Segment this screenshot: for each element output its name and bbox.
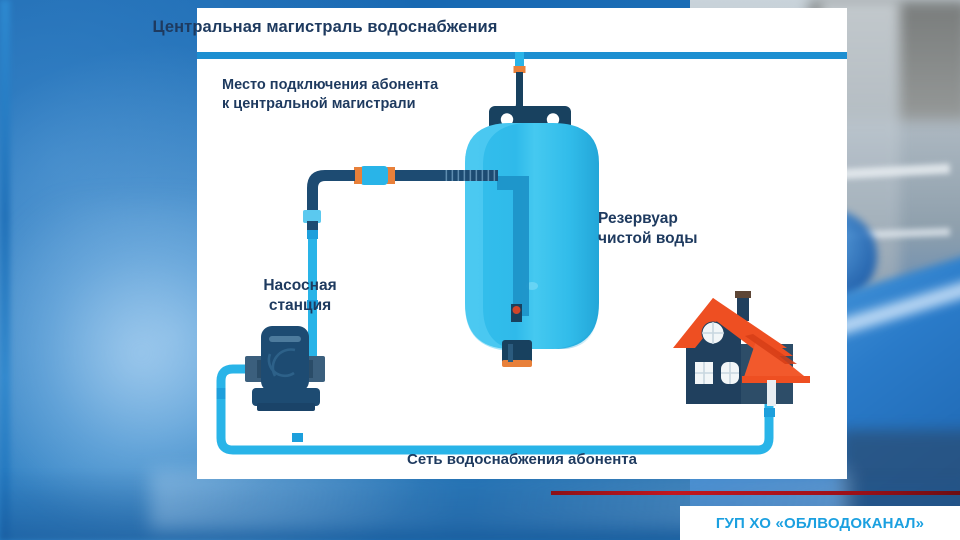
slide-canvas: Центральная магистраль водоснабжения xyxy=(0,0,960,540)
label-pump-station: Насосная станция xyxy=(245,276,355,316)
label-reservoir: Резервуар чистой воды xyxy=(598,209,698,249)
house-icon xyxy=(673,291,810,406)
label-reservoir-line2: чистой воды xyxy=(598,229,698,249)
brand-name: ГУП ХО «ОБЛВОДОКАНАЛ» xyxy=(716,515,924,532)
label-pump-line1: Насосная xyxy=(245,276,355,296)
brand-banner: ГУП ХО «ОБЛВОДОКАНАЛ» xyxy=(680,506,960,540)
water-tank-icon xyxy=(465,123,599,367)
label-connection-line1: Место подключения абонента xyxy=(222,76,438,95)
label-customer-network: Сеть водоснабжения абонента xyxy=(197,450,847,469)
label-pump-line2: станция xyxy=(245,296,355,316)
label-connection-line2: к центральной магистрали xyxy=(222,95,438,114)
label-connection-point: Место подключения абонента к центральной… xyxy=(222,76,438,113)
background-left-edge xyxy=(0,0,10,540)
red-divider xyxy=(551,491,960,495)
label-reservoir-line1: Резервуар xyxy=(598,209,698,229)
